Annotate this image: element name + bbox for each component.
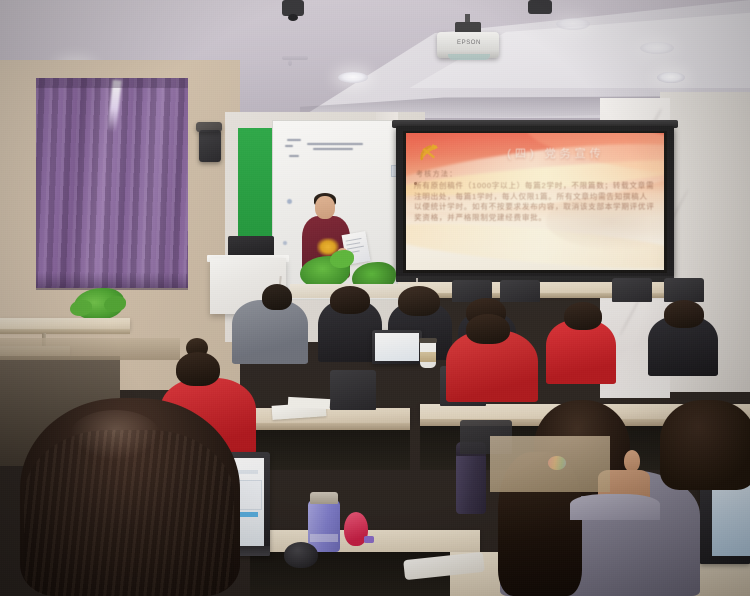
projector-lens	[448, 54, 490, 60]
notebook-papers-2	[288, 397, 330, 409]
thermos-dark	[456, 452, 486, 514]
chair-back-c	[612, 278, 652, 302]
table-window-left-edge	[0, 329, 130, 334]
attendee-red-jacket-back-head	[564, 302, 602, 330]
ceiling-light-6	[556, 18, 590, 30]
chair-back-b	[500, 280, 540, 302]
ceiling-camera-right	[528, 0, 552, 14]
curtain-rod-shadow	[36, 78, 188, 88]
presenter-head	[315, 196, 335, 219]
attendee-right-edge	[660, 400, 750, 490]
ceiling-light-4	[338, 72, 368, 83]
wall-speaker-left	[199, 130, 221, 162]
chair-mid-a	[330, 370, 376, 410]
ceiling-vent	[282, 56, 308, 60]
wall-speaker-right	[196, 122, 222, 132]
laptop-screen-ui-bar	[236, 470, 258, 474]
chair-back-d	[664, 278, 704, 302]
curtain-hem	[36, 272, 188, 290]
projector-brand-label: EPSON	[450, 40, 488, 46]
ceiling-light-7	[640, 42, 674, 54]
table-back-row-edge	[398, 293, 698, 298]
ceiling-light-5	[657, 72, 685, 83]
projection-glow	[406, 133, 664, 270]
attendee-dark-hair-b-head	[398, 286, 440, 316]
attendee-red-hoodie-mid-head	[466, 314, 510, 344]
attendee-dark-hair-a-head	[330, 286, 370, 314]
desk-back-panel	[490, 436, 610, 492]
attendee-red-jacket-left-head	[176, 352, 220, 386]
computer-mouse	[284, 542, 318, 568]
laptop-screen-ui-accent	[238, 512, 258, 517]
attendee-long-wavy-hair-strands	[24, 430, 234, 596]
classroom-photo: EPSON (四) 党务宣传 考核方法： 所有原创稿件（1000字以上）每篇2学…	[0, 0, 750, 596]
attendee-gray-jacket-head	[262, 284, 292, 310]
thermos-purple	[308, 500, 340, 552]
pink-pouch-tip	[364, 536, 374, 543]
thermos-purple-lid	[310, 492, 338, 504]
coffee-cup-sleeve	[420, 352, 436, 362]
attendee-ponytail-ear	[624, 450, 640, 472]
baseboard-left	[0, 338, 180, 360]
attendee-blazer-collar	[570, 494, 660, 520]
ceiling-camera-left-lens	[288, 14, 298, 21]
thermos-purple-label	[310, 534, 338, 542]
ceiling-sprinkler	[288, 60, 292, 66]
attendee-dark-hair-d-head	[664, 300, 704, 328]
laptop-middle-row-screen	[375, 333, 419, 361]
coffee-cup-lid	[419, 338, 437, 343]
